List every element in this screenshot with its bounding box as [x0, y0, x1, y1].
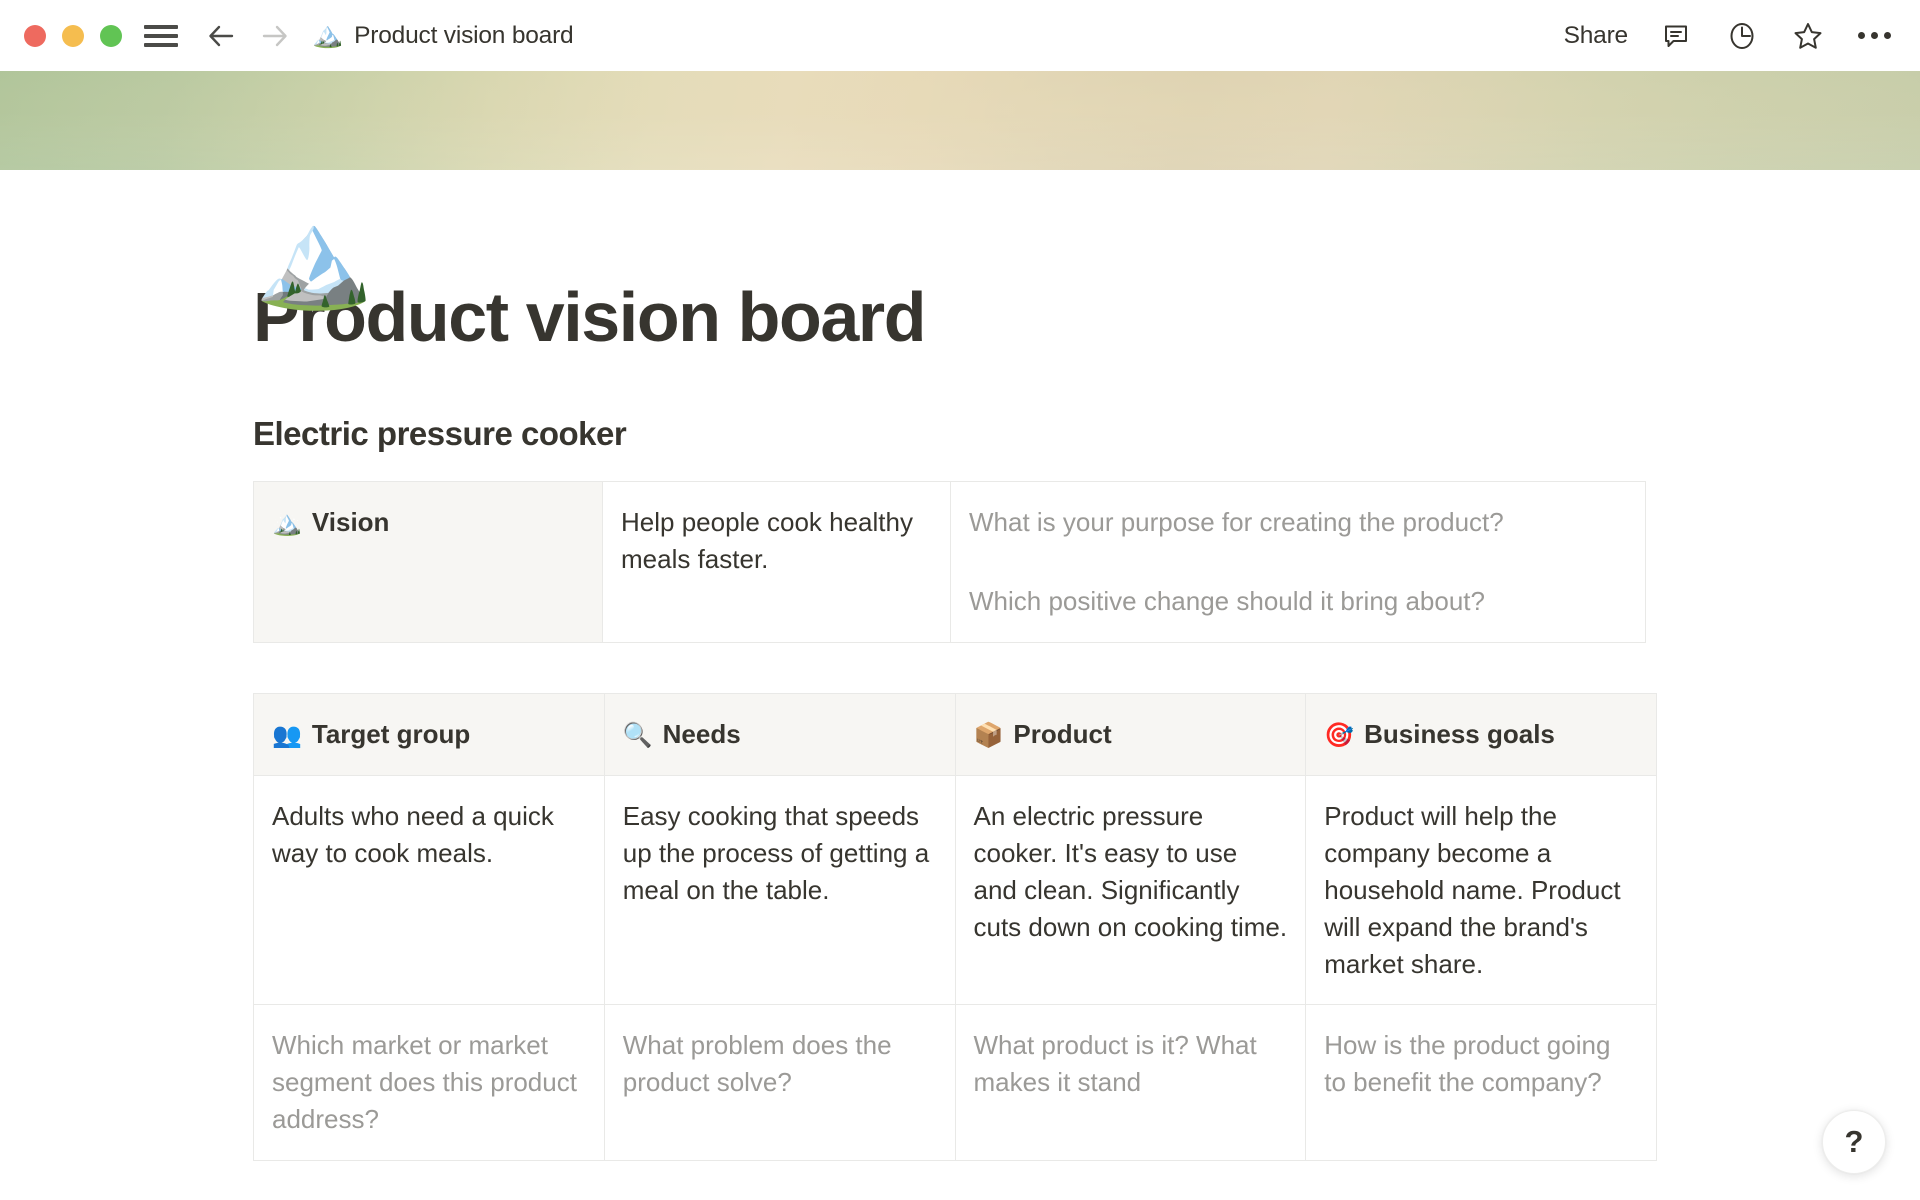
vision-label: Vision [312, 507, 390, 537]
star-icon[interactable] [1790, 18, 1826, 54]
mountain-icon: 🏔️ [272, 510, 302, 537]
column-header-label: Target group [312, 719, 470, 749]
dot [1858, 32, 1865, 39]
column-header-label: Product [1013, 719, 1111, 749]
cell-product-value[interactable]: An electric pressure cooker. It's easy t… [955, 775, 1306, 1005]
window-controls [24, 25, 122, 47]
close-window-button[interactable] [24, 25, 46, 47]
minimize-window-button[interactable] [62, 25, 84, 47]
titlebar-actions: Share [1564, 18, 1892, 54]
cell-needs-hint[interactable]: What problem does the product solve? [604, 1005, 955, 1161]
table-header-row: 👥Target group 🔍Needs 📦Product 🎯Business … [254, 693, 1657, 775]
vision-hint-2: Which positive change should it bring ab… [969, 583, 1627, 620]
navigation-arrows [204, 19, 292, 53]
column-header-label: Business goals [1364, 719, 1555, 749]
cell-target-group-value[interactable]: Adults who need a quick way to cook meal… [254, 775, 605, 1005]
people-icon: 👥 [272, 722, 302, 749]
breadcrumb[interactable]: 🏔️ Product vision board [312, 22, 574, 50]
hamburger-icon[interactable] [144, 23, 178, 49]
arrow-right-icon[interactable] [258, 19, 292, 53]
page-icon[interactable]: 🏔️ [254, 211, 374, 307]
cell-needs-value[interactable]: Easy cooking that speeds up the process … [604, 775, 955, 1005]
arrow-left-icon[interactable] [204, 19, 238, 53]
column-header-target-group[interactable]: 👥Target group [254, 693, 605, 775]
vision-hint-1: What is your purpose for creating the pr… [969, 504, 1627, 541]
table-row: Which market or market segment does this… [254, 1005, 1657, 1161]
target-icon: 🎯 [1324, 722, 1354, 749]
vision-table: 🏔️Vision Help people cook healthy meals … [253, 481, 1646, 643]
breadcrumb-title: Product vision board [354, 22, 573, 50]
titlebar: 🏔️ Product vision board Share [0, 0, 1920, 71]
column-header-business-goals[interactable]: 🎯Business goals [1306, 693, 1657, 775]
column-header-needs[interactable]: 🔍Needs [604, 693, 955, 775]
share-button[interactable]: Share [1564, 22, 1628, 50]
vision-hint-cell[interactable]: What is your purpose for creating the pr… [951, 482, 1646, 643]
magnifier-icon: 🔍 [623, 722, 653, 749]
column-header-product[interactable]: 📦Product [955, 693, 1306, 775]
canvas-table: 👥Target group 🔍Needs 📦Product 🎯Business … [253, 693, 1657, 1161]
cell-target-group-hint[interactable]: Which market or market segment does this… [254, 1005, 605, 1161]
cell-business-goals-value[interactable]: Product will help the company become a h… [1306, 775, 1657, 1005]
section-heading[interactable]: Electric pressure cooker [253, 415, 1920, 453]
dot [1884, 32, 1891, 39]
mountain-icon: 🏔️ [312, 23, 343, 48]
page-cover[interactable] [0, 71, 1920, 170]
help-button[interactable]: ? [1822, 1110, 1886, 1174]
maximize-window-button[interactable] [100, 25, 122, 47]
hamburger-line [144, 25, 178, 29]
page-content: 🏔️ Product vision board Electric pressur… [0, 282, 1920, 1161]
table-row: 🏔️Vision Help people cook healthy meals … [254, 482, 1646, 643]
clock-history-icon[interactable] [1724, 18, 1760, 54]
page-title[interactable]: Product vision board [253, 282, 1920, 352]
hamburger-line [144, 34, 178, 38]
vision-label-cell[interactable]: 🏔️Vision [254, 482, 603, 643]
more-options-icon[interactable] [1856, 18, 1892, 54]
cell-product-hint[interactable]: What product is it? What makes it stand [955, 1005, 1306, 1161]
package-icon: 📦 [974, 722, 1004, 749]
column-header-label: Needs [663, 719, 741, 749]
hamburger-line [144, 43, 178, 47]
dot [1871, 32, 1878, 39]
table-row: Adults who need a quick way to cook meal… [254, 775, 1657, 1005]
vision-value-cell[interactable]: Help people cook healthy meals faster. [603, 482, 951, 643]
cell-business-goals-hint[interactable]: How is the product going to benefit the … [1306, 1005, 1657, 1161]
comment-icon[interactable] [1658, 18, 1694, 54]
